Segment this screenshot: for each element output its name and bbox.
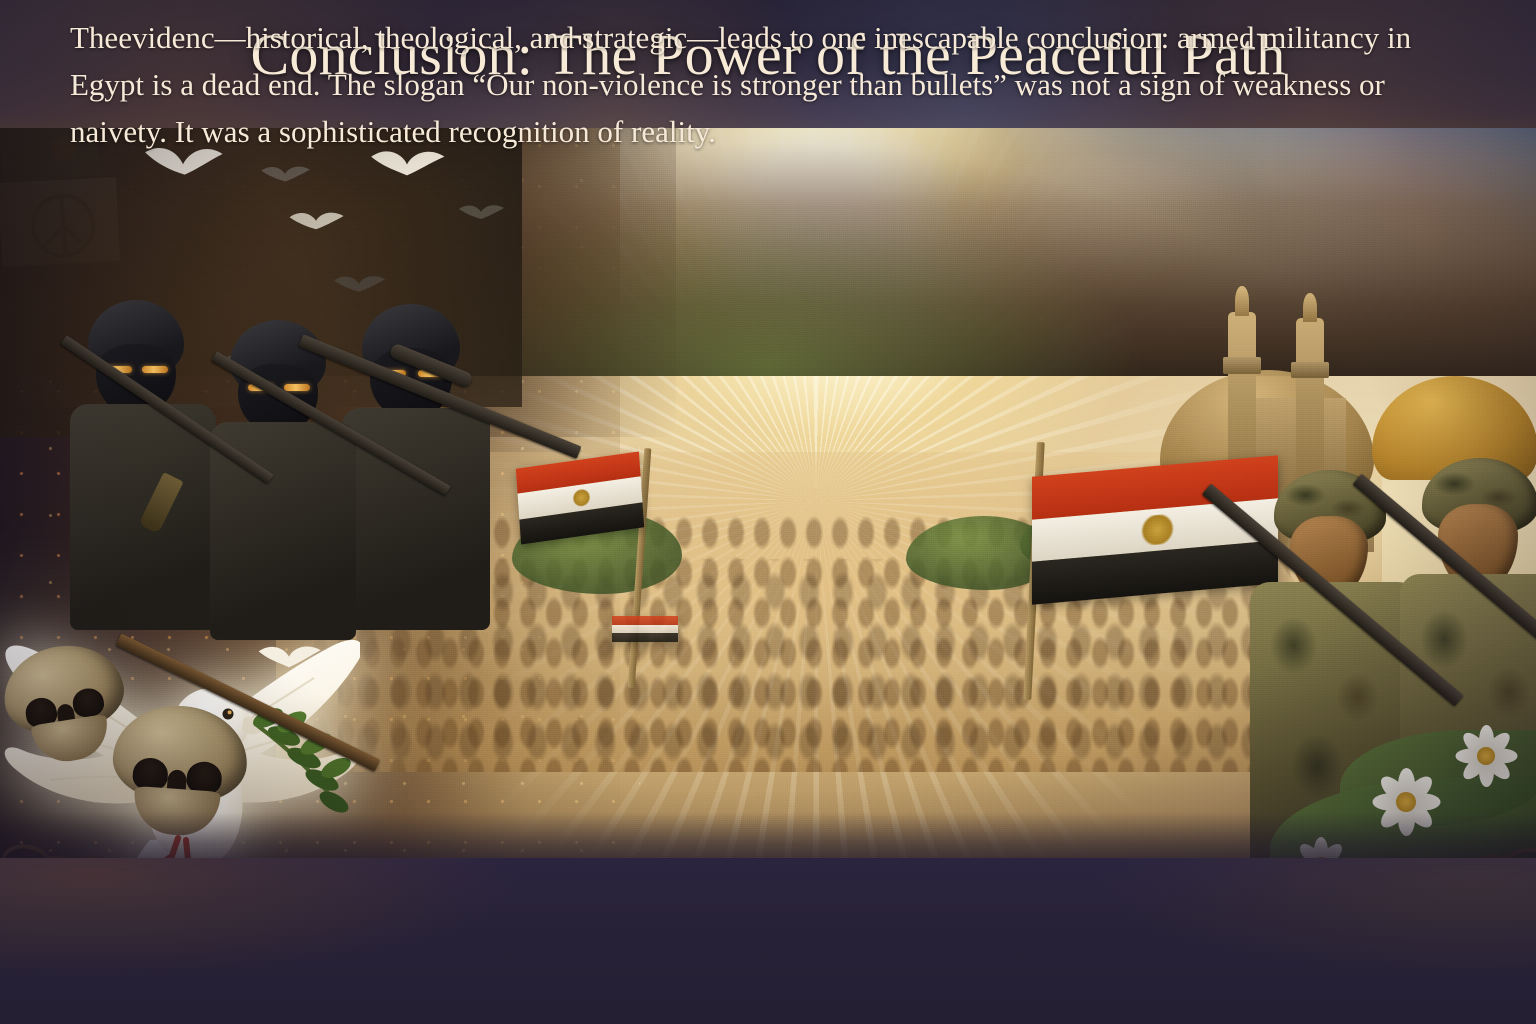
flying-bird-icon (330, 268, 388, 302)
illustration-page: Conclusion: The Power of the Peaceful Pa… (0, 0, 1536, 1024)
flying-dove-icon (256, 638, 322, 678)
artwork-canvas (0, 118, 1536, 878)
daisy-flower-icon (1368, 764, 1444, 840)
egyptian-flag-main-icon (1032, 455, 1278, 605)
caption-text: Theevidenc—historical, theological, and … (70, 14, 1482, 155)
flying-dove-icon (286, 204, 346, 240)
eagle-emblem-icon (1140, 513, 1174, 547)
caption-band (0, 858, 1536, 1024)
flying-bird-icon (258, 158, 312, 192)
human-skull-icon (107, 701, 250, 844)
eagle-emblem-icon (572, 488, 591, 509)
daisy-flower-icon (1452, 722, 1520, 790)
flying-bird-icon (456, 198, 506, 228)
small-flag-icon (612, 616, 678, 642)
